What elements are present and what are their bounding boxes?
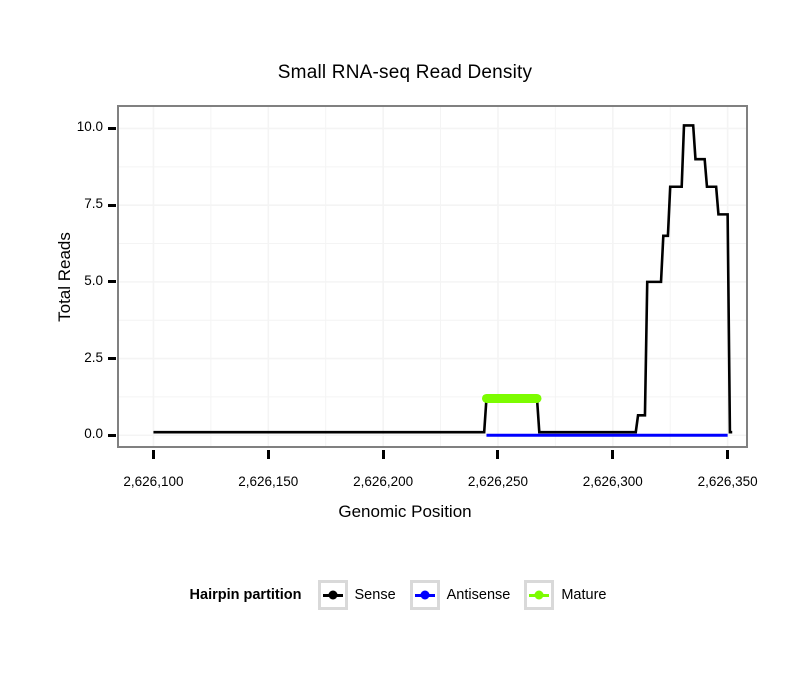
x-tick-mark <box>726 450 729 459</box>
y-tick-label: 2.5 <box>57 350 103 365</box>
x-tick-label: 2,626,250 <box>468 474 528 489</box>
x-tick-label: 2,626,300 <box>583 474 643 489</box>
x-tick-mark <box>267 450 270 459</box>
legend-label-mature: Mature <box>561 587 606 603</box>
x-tick-label: 2,626,350 <box>698 474 758 489</box>
x-tick-mark <box>152 450 155 459</box>
x-tick-mark <box>496 450 499 459</box>
chart-root: Small RNA-seq Read Density Total Reads 0… <box>0 0 810 690</box>
legend-key-sense <box>318 580 348 610</box>
legend-key-antisense <box>410 580 440 610</box>
y-tick-label: 0.0 <box>57 426 103 441</box>
x-tick-label: 2,626,100 <box>123 474 183 489</box>
y-tick-mark <box>108 434 116 437</box>
x-tick-label: 2,626,150 <box>238 474 298 489</box>
legend-title: Hairpin partition <box>190 587 302 603</box>
legend-key-dot <box>535 591 544 600</box>
chart-title: Small RNA-seq Read Density <box>0 62 810 84</box>
legend-key-dot <box>328 591 337 600</box>
legend-label-antisense: Antisense <box>447 587 511 603</box>
plot-panel <box>117 105 748 448</box>
y-tick-label: 7.5 <box>57 196 103 211</box>
legend-key-dot <box>420 591 429 600</box>
y-tick-mark <box>108 204 116 207</box>
x-axis-title: Genomic Position <box>0 502 810 522</box>
x-tick-mark <box>382 450 385 459</box>
legend-item-mature[interactable]: Mature <box>524 580 606 610</box>
y-tick-mark <box>108 127 116 130</box>
y-tick-label: 10.0 <box>57 119 103 134</box>
legend-item-sense[interactable]: Sense <box>318 580 396 610</box>
x-tick-mark <box>611 450 614 459</box>
y-tick-label: 5.0 <box>57 273 103 288</box>
series-sense <box>153 125 732 432</box>
plot-area <box>119 107 746 446</box>
legend-label-sense: Sense <box>355 587 396 603</box>
legend: Hairpin partition SenseAntisenseMature <box>0 580 810 610</box>
y-tick-mark <box>108 357 116 360</box>
x-tick-label: 2,626,200 <box>353 474 413 489</box>
legend-key-mature <box>524 580 554 610</box>
legend-item-antisense[interactable]: Antisense <box>410 580 511 610</box>
data-series-layer <box>119 107 746 446</box>
y-tick-mark <box>108 280 116 283</box>
legend-items: SenseAntisenseMature <box>318 580 621 610</box>
